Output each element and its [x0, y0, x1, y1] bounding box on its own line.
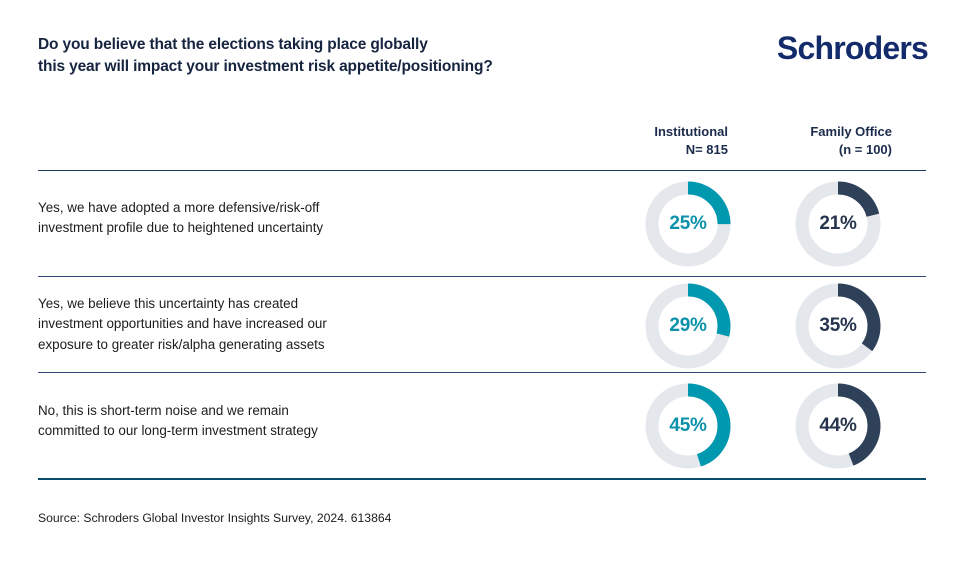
- page-title: Do you believe that the elections taking…: [38, 34, 658, 78]
- table-row: Yes, we have adopted a more defensive/ri…: [0, 172, 960, 276]
- donut-ring-icon: [640, 378, 736, 474]
- donut-chart-institutional: 25%: [640, 176, 736, 272]
- column-header-family-office-name: Family Office: [742, 123, 892, 141]
- donut-ring-icon: [640, 176, 736, 272]
- table-rule-bottom: [38, 478, 926, 480]
- row-label: Yes, we believe this uncertainty has cre…: [38, 294, 538, 355]
- row-label-line: Yes, we have adopted a more defensive/ri…: [38, 198, 538, 218]
- row-label-line: investment profile due to heightened unc…: [38, 218, 538, 238]
- column-header-institutional-name: Institutional: [578, 123, 728, 141]
- row-label-line: investment opportunities and have increa…: [38, 314, 538, 334]
- source-note: Source: Schroders Global Investor Insigh…: [38, 511, 391, 527]
- donut-chart-institutional: 45%: [640, 378, 736, 474]
- donut-chart-family-office: 35%: [790, 278, 886, 374]
- table-row: Yes, we believe this uncertainty has cre…: [0, 278, 960, 372]
- row-label-line: Yes, we believe this uncertainty has cre…: [38, 294, 538, 314]
- donut-ring-icon: [790, 176, 886, 272]
- column-header-institutional: Institutional N= 815: [578, 123, 728, 160]
- donut-chart-family-office: 21%: [790, 176, 886, 272]
- row-label-line: No, this is short-term noise and we rema…: [38, 401, 538, 421]
- donut-chart-institutional: 29%: [640, 278, 736, 374]
- table-rule-row-1: [38, 276, 926, 277]
- row-label: No, this is short-term noise and we rema…: [38, 401, 538, 442]
- slide-canvas: Do you believe that the elections taking…: [0, 0, 960, 561]
- row-label-line: committed to our long-term investment st…: [38, 421, 538, 441]
- donut-ring-icon: [790, 378, 886, 474]
- page-title-line-2: this year will impact your investment ri…: [38, 56, 658, 78]
- row-label: Yes, we have adopted a more defensive/ri…: [38, 198, 538, 239]
- column-header-institutional-count: N= 815: [578, 141, 728, 159]
- column-header-family-office: Family Office (n = 100): [742, 123, 892, 160]
- donut-chart-family-office: 44%: [790, 378, 886, 474]
- schroders-logo: Schroders: [777, 32, 928, 64]
- page-title-line-1: Do you believe that the elections taking…: [38, 34, 658, 56]
- row-label-line: exposure to greater risk/alpha generatin…: [38, 335, 538, 355]
- table-row: No, this is short-term noise and we rema…: [0, 374, 960, 478]
- column-header-family-office-count: (n = 100): [742, 141, 892, 159]
- donut-ring-icon: [640, 278, 736, 374]
- donut-ring-icon: [790, 278, 886, 374]
